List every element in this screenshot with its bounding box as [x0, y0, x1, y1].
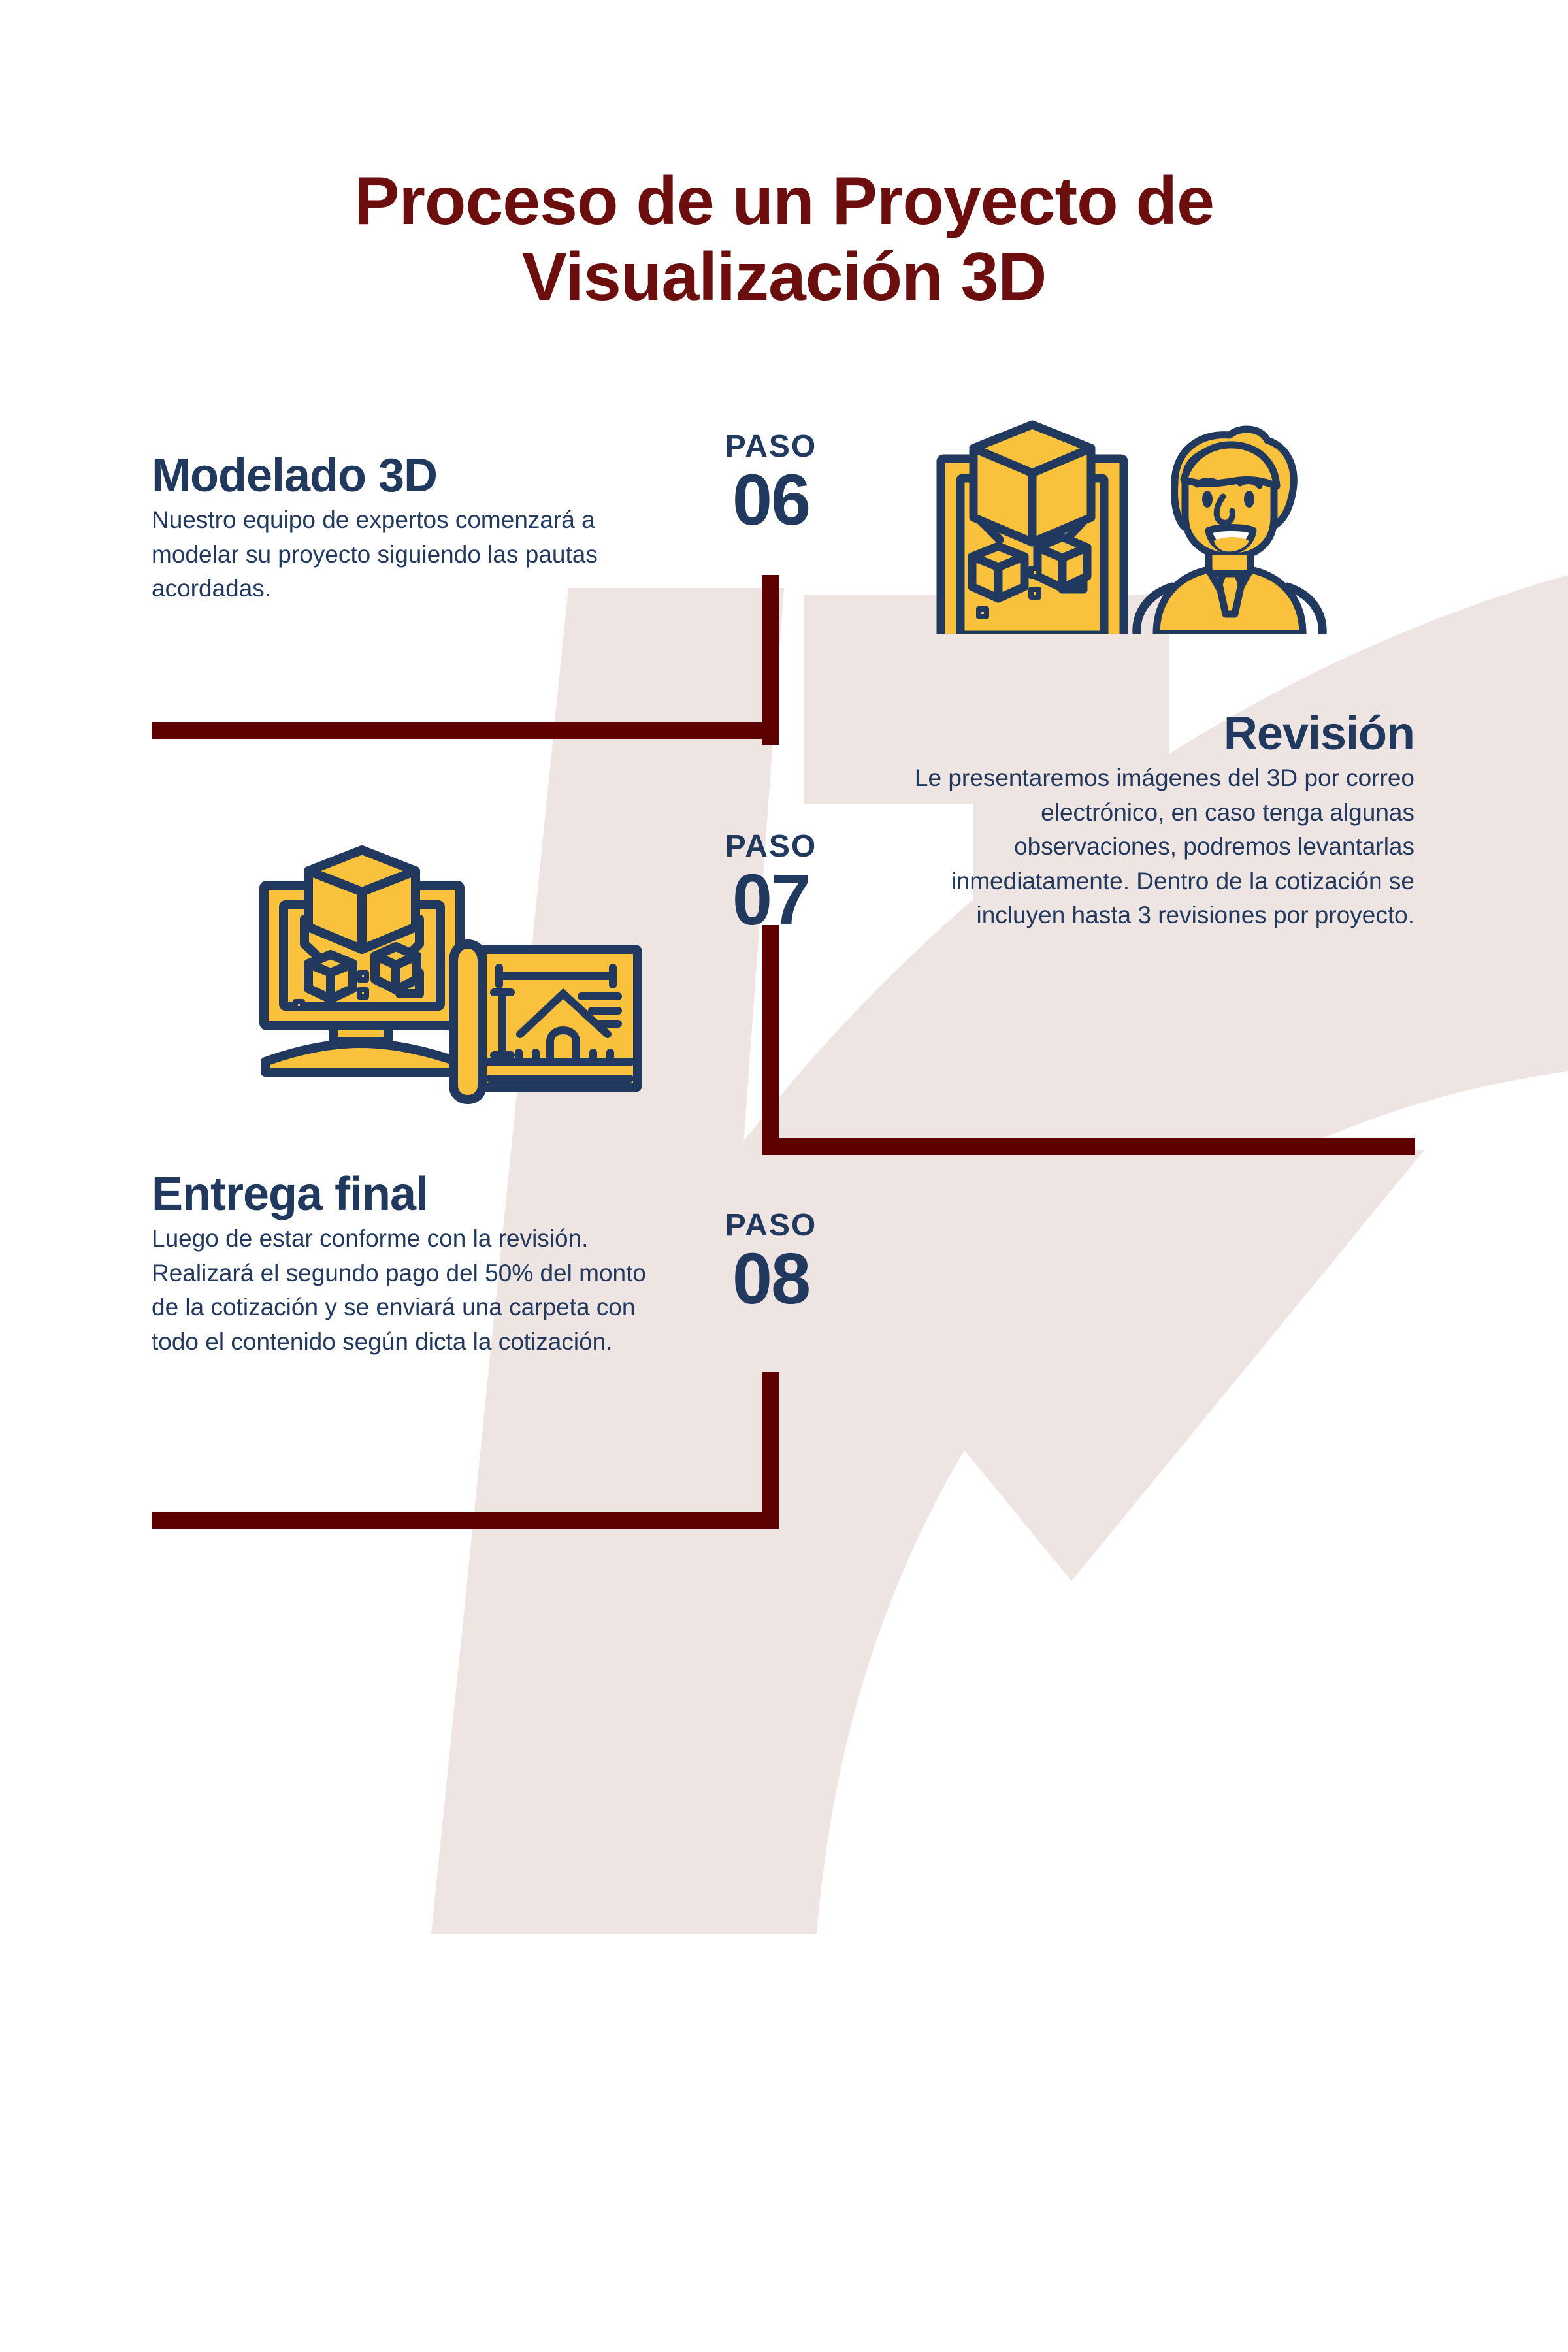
connector-vertical-top — [762, 575, 779, 745]
connector-horizontal-step-07 — [762, 1138, 1415, 1155]
page-title: Proceso de un Proyecto de Visualización … — [0, 163, 1568, 316]
connector-vertical-bottom — [762, 1372, 779, 1529]
step-08-body: Luego de estar conforme con la revisión.… — [152, 1222, 668, 1359]
page-title-line-2: Visualización 3D — [0, 239, 1568, 315]
step-07-paso-label: PASO — [666, 831, 875, 862]
step-07-number-block: PASO 07 — [666, 831, 875, 937]
step-08-number-block: PASO 08 — [666, 1210, 875, 1316]
connector-vertical-middle — [762, 925, 779, 1141]
step-08-number: 08 — [666, 1243, 875, 1316]
step-06-text-block: Modelado 3D Nuestro equipo de expertos c… — [152, 451, 648, 606]
step-07-number: 07 — [666, 864, 875, 937]
infographic-canvas: Proceso de un Proyecto de Visualización … — [0, 0, 1568, 2352]
step-07-heading: Revisión — [895, 709, 1414, 759]
page-title-line-1: Proceso de un Proyecto de — [354, 163, 1214, 239]
step-08-text-block: Entrega final Luego de estar conforme co… — [152, 1169, 668, 1359]
step-07-body: Le presentaremos imágenes del 3D por cor… — [895, 761, 1414, 933]
step-06-heading: Modelado 3D — [152, 451, 648, 500]
step-06-paso-label: PASO — [666, 431, 875, 463]
step-08-heading: Entrega final — [152, 1169, 668, 1219]
monitor-3d-cube-with-blueprint-icon — [255, 840, 647, 1107]
step-07-text-block: Revisión Le presentaremos imágenes del 3… — [895, 709, 1414, 933]
connector-horizontal-step-08 — [152, 1512, 779, 1529]
connector-horizontal-step-06 — [152, 722, 779, 739]
step-06-body: Nuestro equipo de expertos comenzará a m… — [152, 503, 648, 606]
step-06-number: 06 — [666, 464, 875, 537]
step-08-paso-label: PASO — [666, 1210, 875, 1241]
monitor-3d-cube-with-person-icon — [928, 418, 1411, 634]
step-06-number-block: PASO 06 — [666, 431, 875, 537]
